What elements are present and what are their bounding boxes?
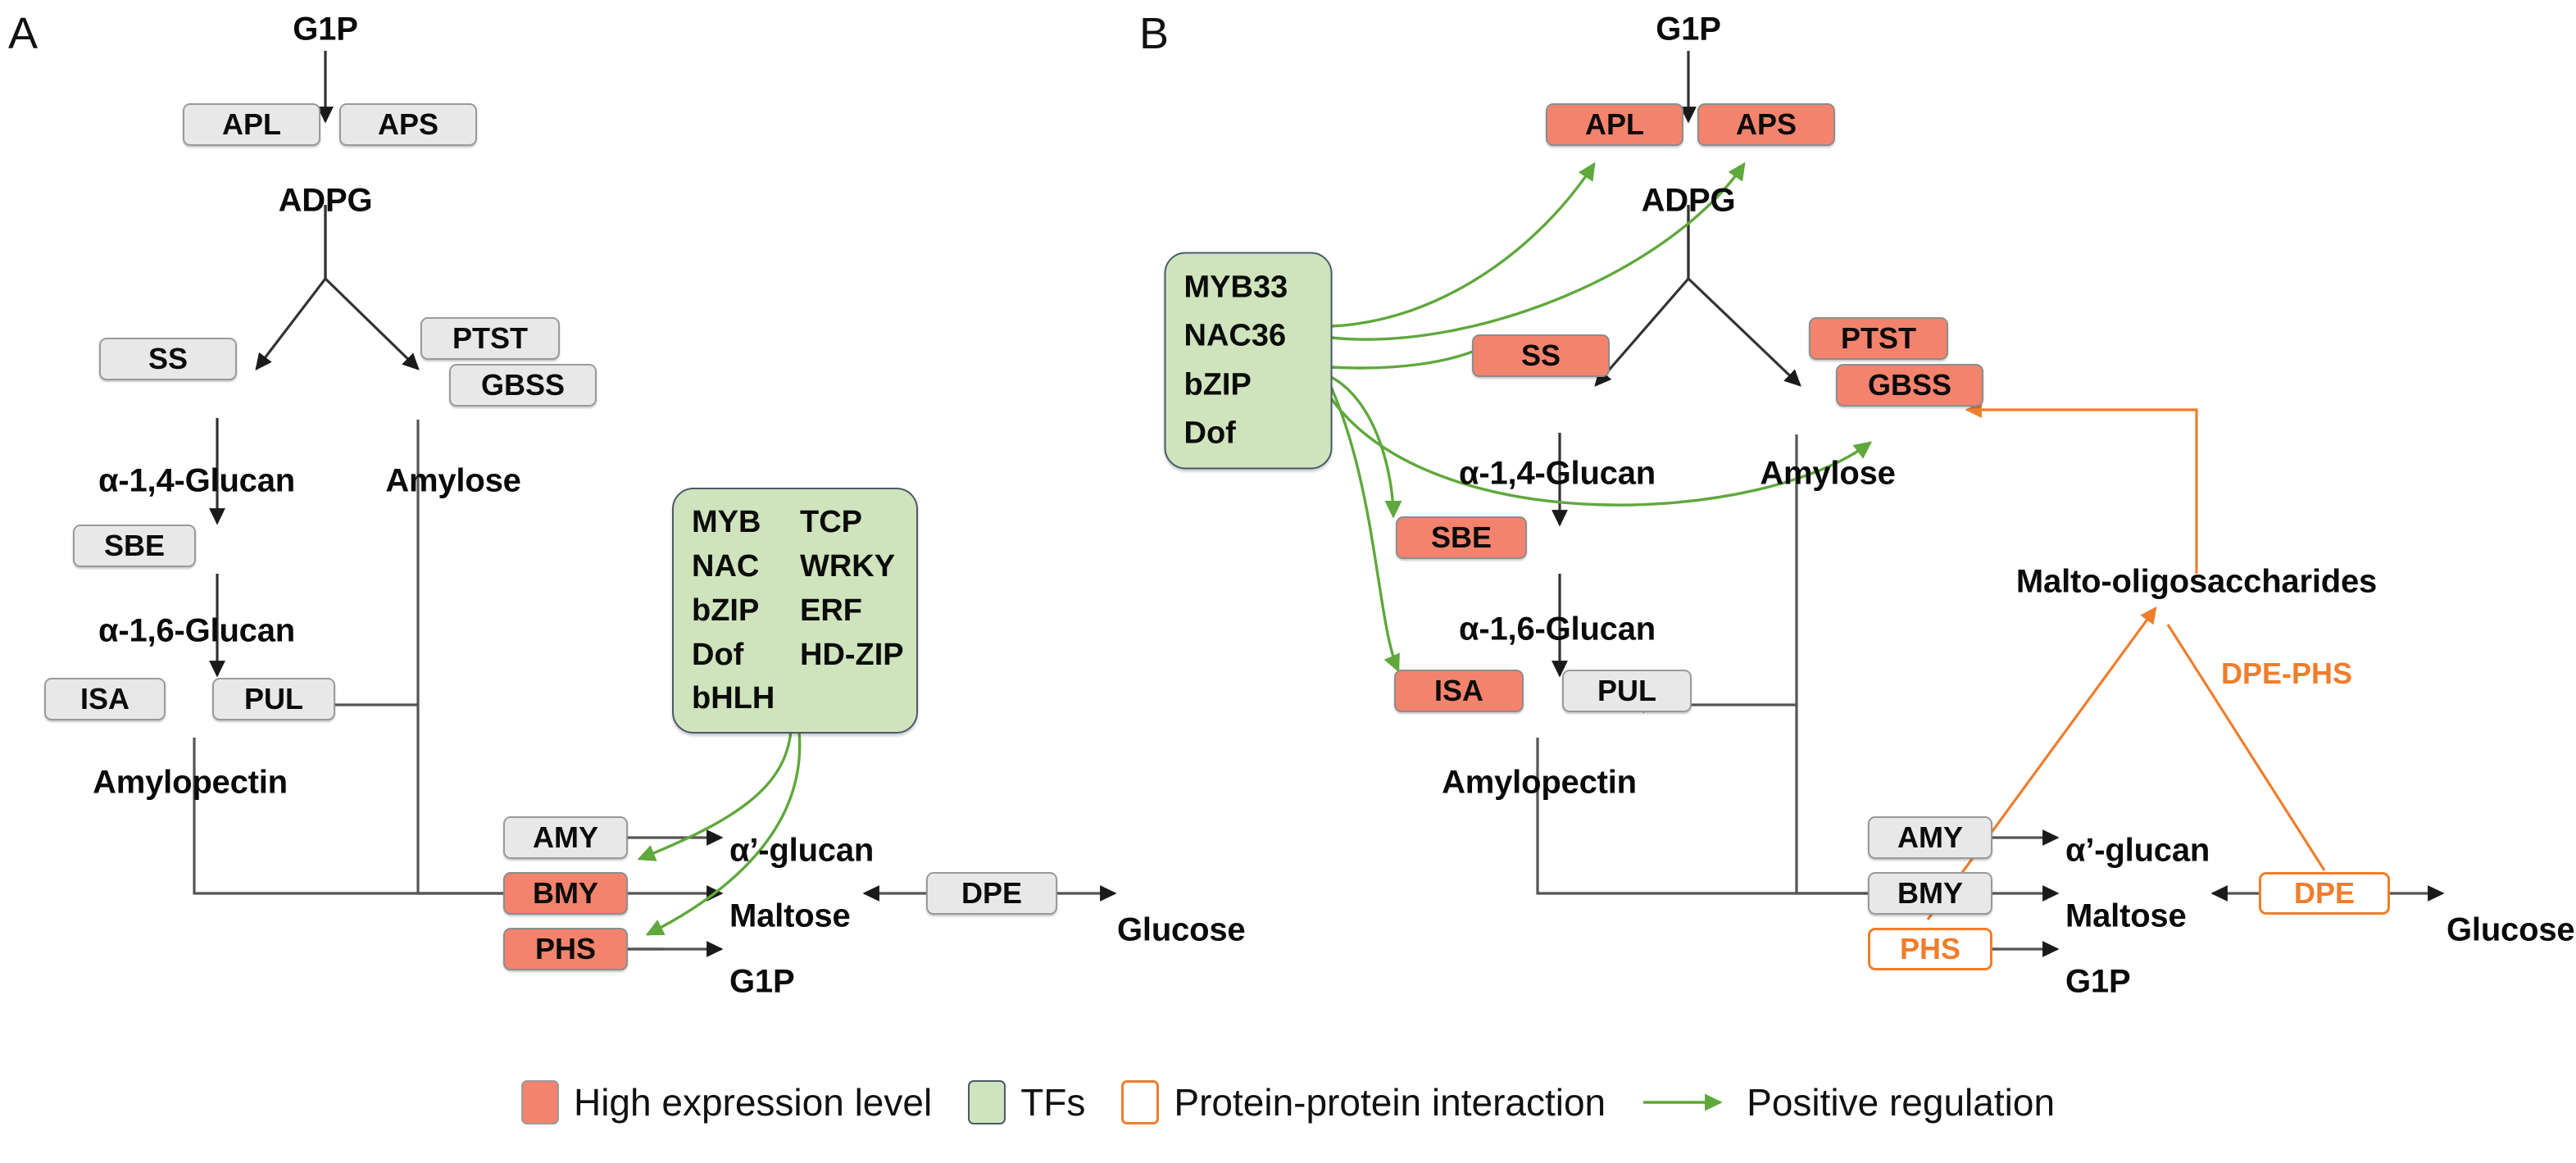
legend-swatch-tfs — [968, 1080, 1006, 1124]
figure-canvas: A G1P ADPG α-1,4-Glucan Amylose α-1,6-Gl… — [0, 0, 2576, 1163]
panelB-tf-bzip: bZIP — [1184, 364, 1313, 406]
panelB-metabolite-malto-oligosaccharides: Malto-oligosaccharides — [2016, 564, 2377, 601]
panelA-enzyme-pul[interactable]: PUL — [212, 678, 335, 720]
panelA-metabolite-alpha-1-4-glucan: α-1,4-Glucan — [98, 463, 295, 500]
panelB-enzyme-amy[interactable]: AMY — [1868, 816, 1992, 859]
panelA-enzyme-sbe[interactable]: SBE — [73, 525, 196, 567]
legend-swatch-high-expression — [521, 1080, 559, 1124]
panelB-enzyme-apl[interactable]: APL — [1546, 103, 1683, 146]
legend-item-tfs: TFs — [968, 1080, 1085, 1124]
panelB-metabolite-alpha-prime-glucan: α’-glucan — [2065, 833, 2210, 870]
panelB-enzyme-sbe[interactable]: SBE — [1396, 516, 1527, 559]
panelB-enzyme-ptst[interactable]: PTST — [1809, 317, 1948, 360]
panelA-tf-nac: NAC — [692, 547, 800, 587]
panelB-enzyme-ss[interactable]: SS — [1472, 334, 1610, 377]
panelB-tf-myb33: MYB33 — [1184, 267, 1313, 309]
panelB-metabolite-g1p-top: G1P — [1656, 11, 1720, 48]
legend-arrow-icon — [1642, 1092, 1732, 1113]
panelA-metabolite-adpg: ADPG — [279, 183, 373, 220]
legend-item-positive-regulation: Positive regulation — [1642, 1080, 2055, 1124]
panelB-metabolite-maltose: Maltose — [2065, 898, 2187, 935]
panelA-enzyme-ptst[interactable]: PTST — [420, 317, 560, 360]
panelA-enzyme-ss[interactable]: SS — [99, 338, 237, 380]
legend-label-high-expression: High expression level — [574, 1080, 932, 1124]
panelA-enzyme-aps[interactable]: APS — [339, 103, 477, 146]
panelB-enzyme-pul[interactable]: PUL — [1562, 670, 1692, 712]
panelA-metabolite-alpha-1-6-glucan: α-1,6-Glucan — [98, 613, 295, 650]
panelB-enzyme-bmy[interactable]: BMY — [1868, 872, 1992, 915]
legend-item-high-expression: High expression level — [521, 1080, 932, 1124]
legend-label-positive-regulation: Positive regulation — [1747, 1080, 2055, 1124]
panelB-enzyme-phs[interactable]: PHS — [1868, 928, 1992, 970]
panelA-enzyme-bmy[interactable]: BMY — [503, 872, 628, 915]
panelA-enzyme-isa[interactable]: ISA — [44, 678, 166, 720]
legend-label-protein-protein: Protein-protein interaction — [1174, 1080, 1606, 1124]
panelA-metabolite-amylopectin: Amylopectin — [93, 765, 288, 802]
panelA-tf-box[interactable]: MYB NAC bZIP Dof bHLH TCP WRKY ERF HD-ZI… — [672, 488, 918, 734]
panelA-tf-spacer — [800, 679, 939, 719]
panelA-metabolite-alpha-prime-glucan: α’-glucan — [729, 833, 874, 870]
legend: High expression level TFs Protein-protei… — [0, 1065, 2576, 1139]
panel-a-letter: A — [8, 8, 38, 59]
panelA-tf-bhlh: bHLH — [692, 679, 800, 719]
panelB-metabolite-amylopectin: Amylopectin — [1442, 765, 1637, 802]
panelB-enzyme-isa[interactable]: ISA — [1394, 670, 1524, 712]
panelA-tf-column-2: TCP WRKY ERF HD-ZIP — [800, 502, 939, 719]
legend-label-tfs: TFs — [1020, 1080, 1085, 1124]
panelA-tf-hdzip: HD-ZIP — [800, 635, 939, 675]
panelA-metabolite-g1p-top: G1P — [293, 11, 357, 48]
panelA-enzyme-amy[interactable]: AMY — [503, 816, 628, 859]
panelA-metabolite-amylose: Amylose — [385, 463, 520, 500]
panelA-metabolite-maltose: Maltose — [729, 898, 851, 935]
panelB-metabolite-alpha-1-6-glucan: α-1,6-Glucan — [1459, 611, 1656, 648]
panelB-interaction-label: DPE-PHS — [2221, 656, 2352, 691]
panelA-enzyme-apl[interactable]: APL — [183, 103, 320, 146]
legend-item-protein-protein: Protein-protein interaction — [1121, 1080, 1606, 1124]
panelB-metabolite-glucose: Glucose — [2447, 912, 2574, 949]
panelA-metabolite-glucose: Glucose — [1117, 912, 1245, 949]
panelA-tf-erf: ERF — [800, 591, 939, 631]
panelA-metabolite-g1p-bottom: G1P — [729, 964, 794, 1001]
panelB-metabolite-adpg: ADPG — [1642, 183, 1736, 220]
panelB-metabolite-alpha-1-4-glucan: α-1,4-Glucan — [1459, 456, 1656, 493]
panelB-metabolite-g1p-bottom: G1P — [2065, 964, 2130, 1001]
legend-swatch-protein-protein — [1121, 1080, 1159, 1124]
panelB-tf-dof: Dof — [1184, 413, 1313, 455]
panelA-tf-tcp: TCP — [800, 502, 939, 543]
panelA-tf-dof: Dof — [692, 635, 800, 675]
panelA-enzyme-dpe[interactable]: DPE — [926, 872, 1057, 915]
panelA-tf-bzip: bZIP — [692, 591, 800, 631]
panelB-tf-nac36: NAC36 — [1184, 316, 1313, 357]
panelA-enzyme-phs[interactable]: PHS — [503, 928, 628, 970]
panel-b-letter: B — [1139, 8, 1169, 59]
panelB-enzyme-gbss[interactable]: GBSS — [1836, 364, 1983, 407]
panelA-tf-column-1: MYB NAC bZIP Dof bHLH — [692, 502, 800, 719]
panelA-tf-myb: MYB — [692, 502, 800, 543]
panelA-tf-wrky: WRKY — [800, 547, 939, 587]
panelB-enzyme-dpe[interactable]: DPE — [2259, 872, 2390, 915]
panelA-enzyme-gbss[interactable]: GBSS — [449, 364, 597, 407]
panelB-tf-column-1: MYB33 NAC36 bZIP Dof — [1184, 267, 1313, 455]
panelB-enzyme-aps[interactable]: APS — [1697, 103, 1835, 146]
panelB-tf-box[interactable]: MYB33 NAC36 bZIP Dof — [1165, 252, 1333, 470]
panelB-metabolite-amylose: Amylose — [1760, 456, 1895, 493]
